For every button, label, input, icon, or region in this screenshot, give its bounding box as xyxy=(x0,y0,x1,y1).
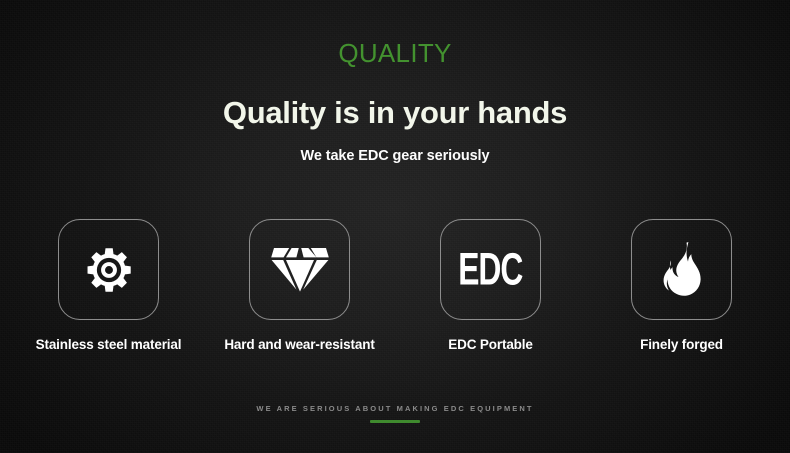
feature-icon-box xyxy=(58,219,159,320)
feature-label: Finely forged xyxy=(640,337,723,352)
feature-label: Hard and wear-resistant xyxy=(224,337,374,352)
feature-item-stainless-steel: Stainless steel material xyxy=(13,219,204,352)
footer-accent-rule xyxy=(370,420,420,423)
feature-label: EDC Portable xyxy=(448,337,532,352)
page-subtitle: We take EDC gear seriously xyxy=(0,146,790,166)
quality-banner: QUALITY Quality is in your hands We take… xyxy=(0,0,790,453)
diamond-icon xyxy=(270,242,330,298)
feature-item-finely-forged: Finely forged xyxy=(586,219,777,352)
flame-icon xyxy=(655,241,709,299)
feature-icon-box xyxy=(249,219,350,320)
section-eyebrow: QUALITY xyxy=(0,36,790,70)
feature-item-wear-resistant: Hard and wear-resistant xyxy=(204,219,395,352)
page-title: Quality is in your hands xyxy=(0,94,790,132)
feature-label: Stainless steel material xyxy=(36,337,182,352)
footer-tagline: WE ARE SERIOUS ABOUT MAKING EDC EQUIPMEN… xyxy=(0,403,790,414)
edc-text-icon: EDC xyxy=(458,247,522,292)
gear-icon xyxy=(81,242,137,298)
feature-icon-box: EDC xyxy=(440,219,541,320)
feature-item-edc-portable: EDC EDC Portable xyxy=(395,219,586,352)
feature-icon-box xyxy=(631,219,732,320)
feature-list: Stainless steel material xyxy=(0,219,790,352)
